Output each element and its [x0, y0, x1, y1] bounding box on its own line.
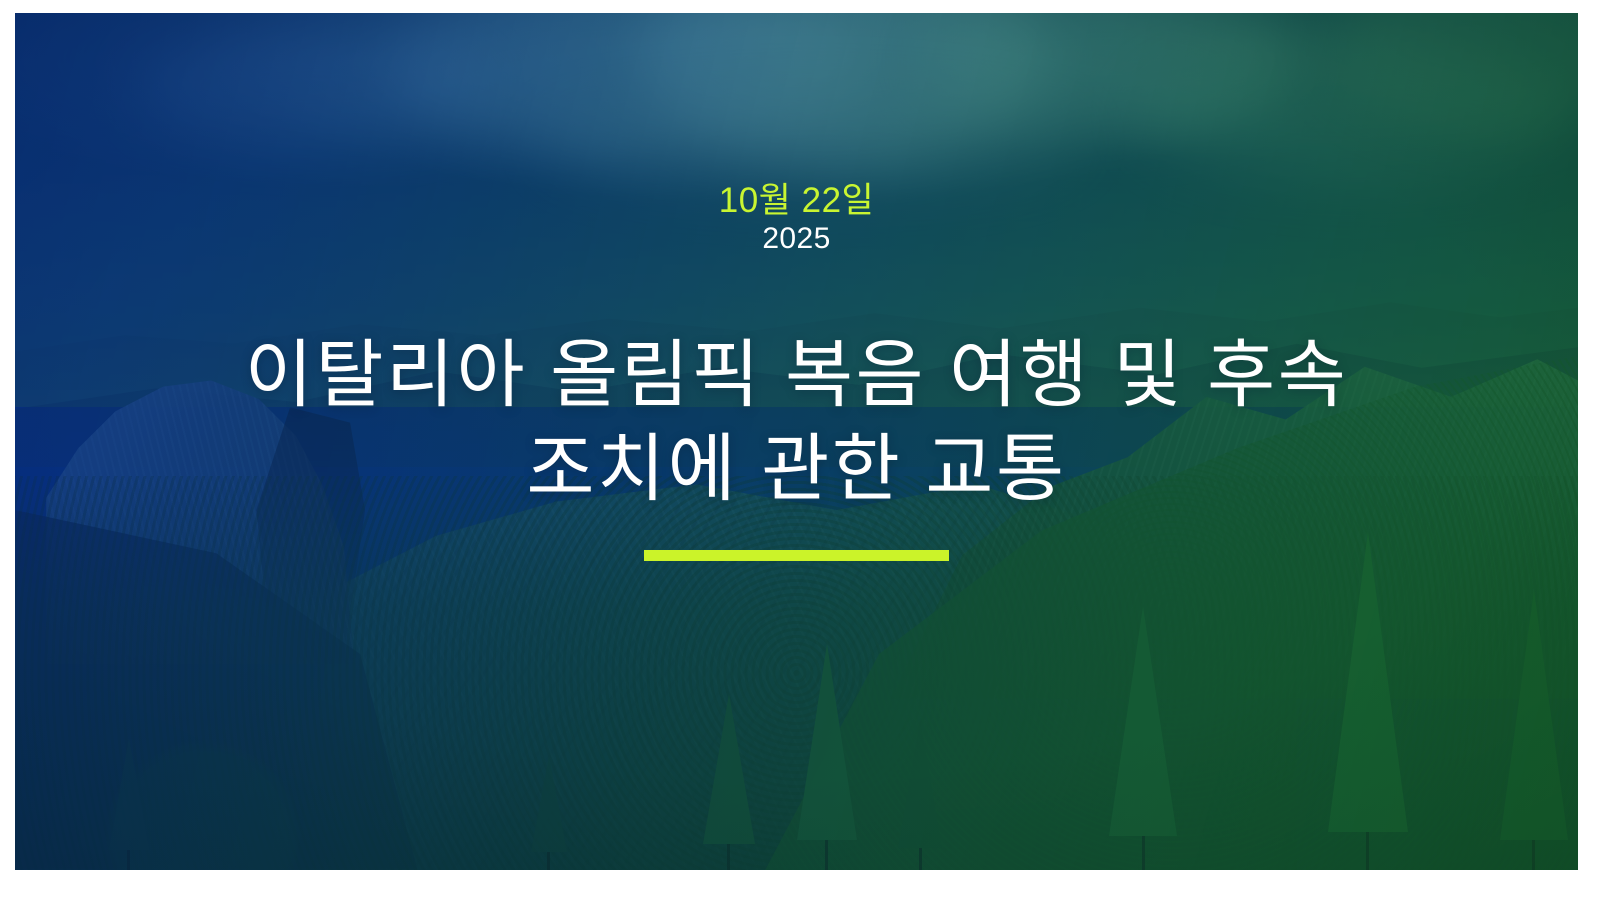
slide-date-day: 10월 22일	[719, 181, 875, 220]
slide-title: 이탈리아 올림픽 복음 여행 및 후속 조치에 관한 교통	[232, 328, 1362, 516]
slide-content: 10월 22일 2025 이탈리아 올림픽 복음 여행 및 후속 조치에 관한 …	[15, 13, 1578, 870]
date-block: 10월 22일 2025	[719, 181, 875, 256]
accent-bar	[644, 550, 949, 561]
title-slide: 10월 22일 2025 이탈리아 올림픽 복음 여행 및 후속 조치에 관한 …	[15, 13, 1578, 870]
slide-date-year: 2025	[719, 222, 875, 256]
